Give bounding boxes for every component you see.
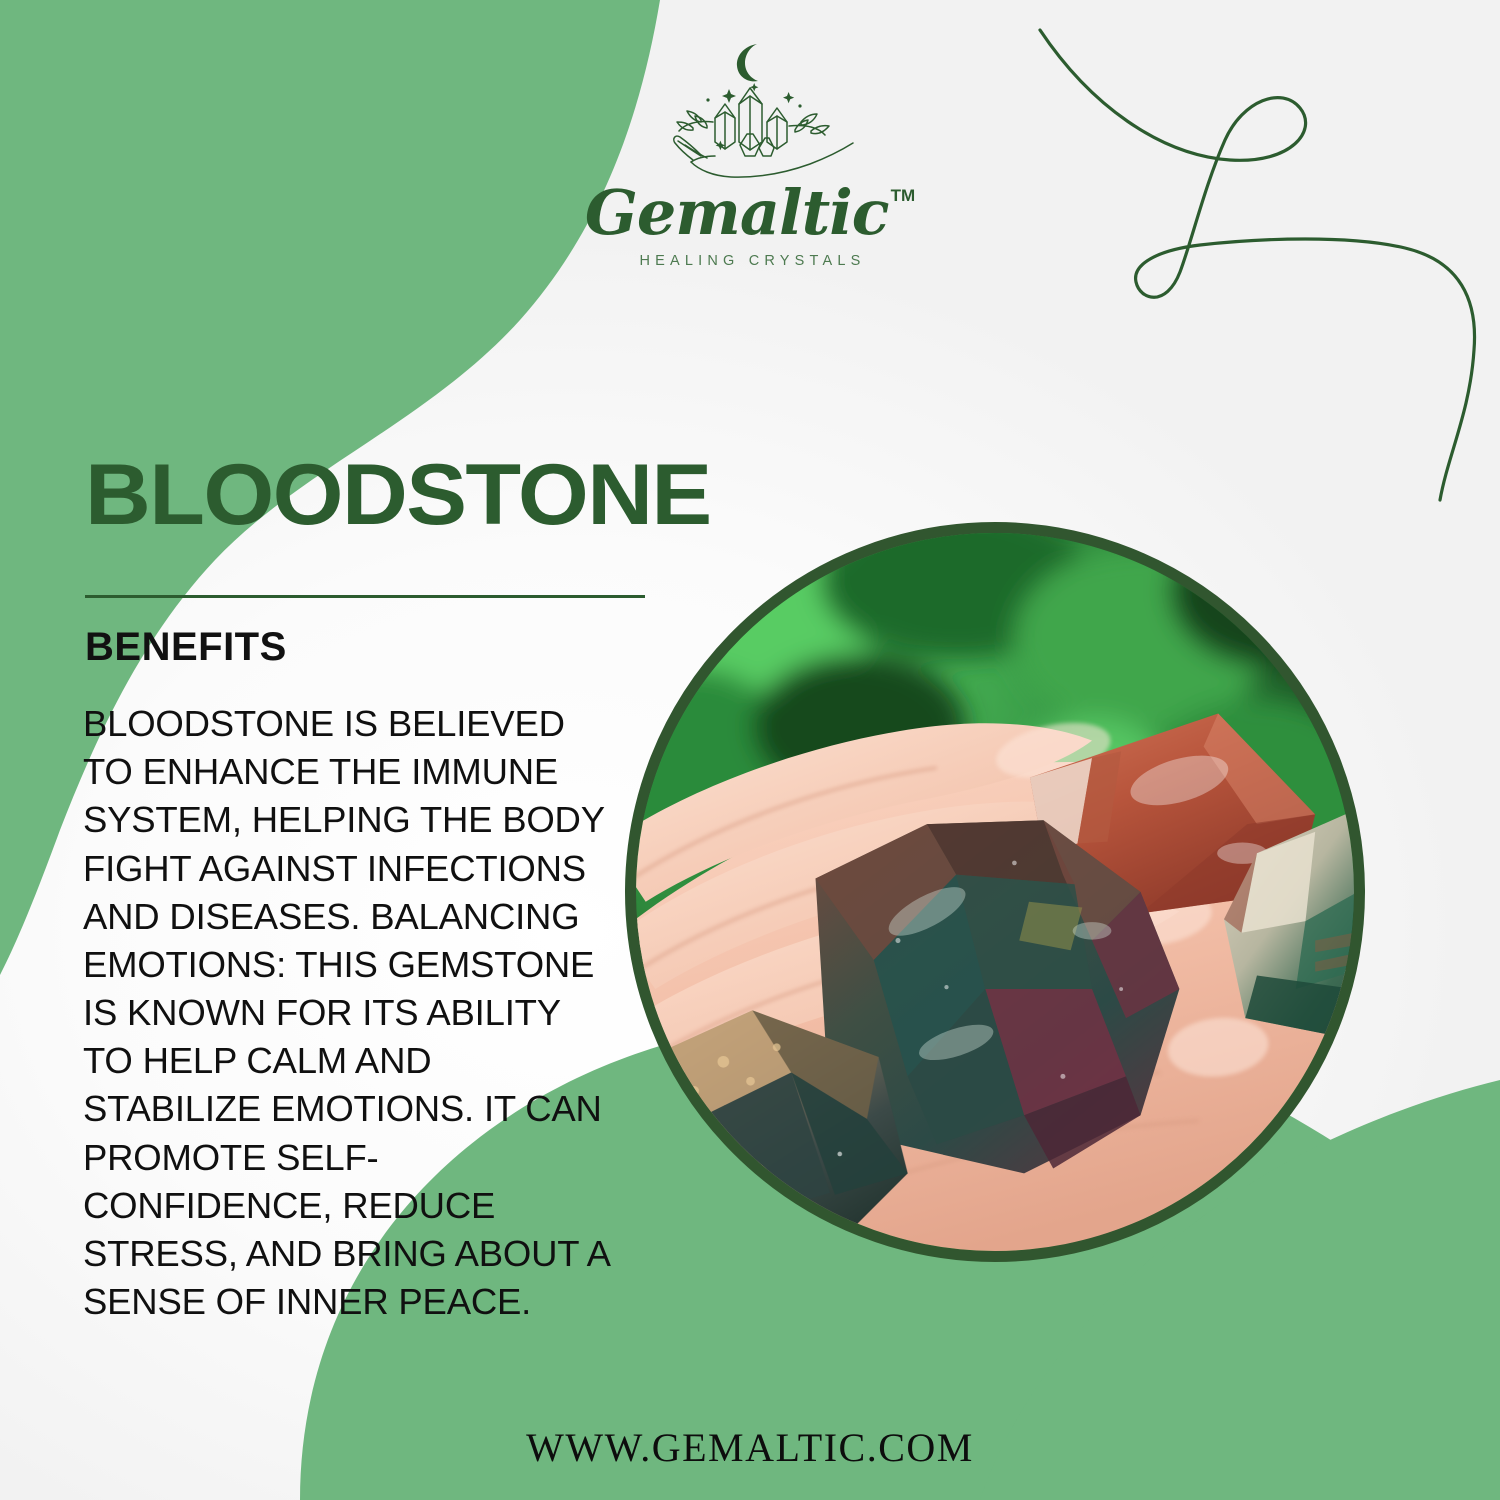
bloodstone-in-hand-image xyxy=(636,533,1354,1251)
product-photo xyxy=(625,522,1365,1262)
title-divider xyxy=(85,595,645,598)
poster-canvas: Gemaltic TM HEALING CRYSTALS BLOODSTONE … xyxy=(0,0,1500,1500)
brand-name: Gemaltic xyxy=(585,182,889,244)
crystal-cluster-in-hand-icon xyxy=(635,38,865,188)
page-title: BLOODSTONE xyxy=(85,452,711,538)
brand-wordmark: Gemaltic TM xyxy=(585,182,915,244)
benefits-body-text: BLOODSTONE IS BELIEVED TO ENHANCE THE IM… xyxy=(83,700,613,1326)
brand-logo: Gemaltic TM HEALING CRYSTALS xyxy=(0,38,1500,269)
website-url[interactable]: WWW.GEMALTIC.COM xyxy=(0,1424,1500,1471)
trademark-symbol: TM xyxy=(891,186,916,206)
section-heading: BENEFITS xyxy=(85,625,287,670)
brand-tagline: HEALING CRYSTALS xyxy=(634,253,865,269)
